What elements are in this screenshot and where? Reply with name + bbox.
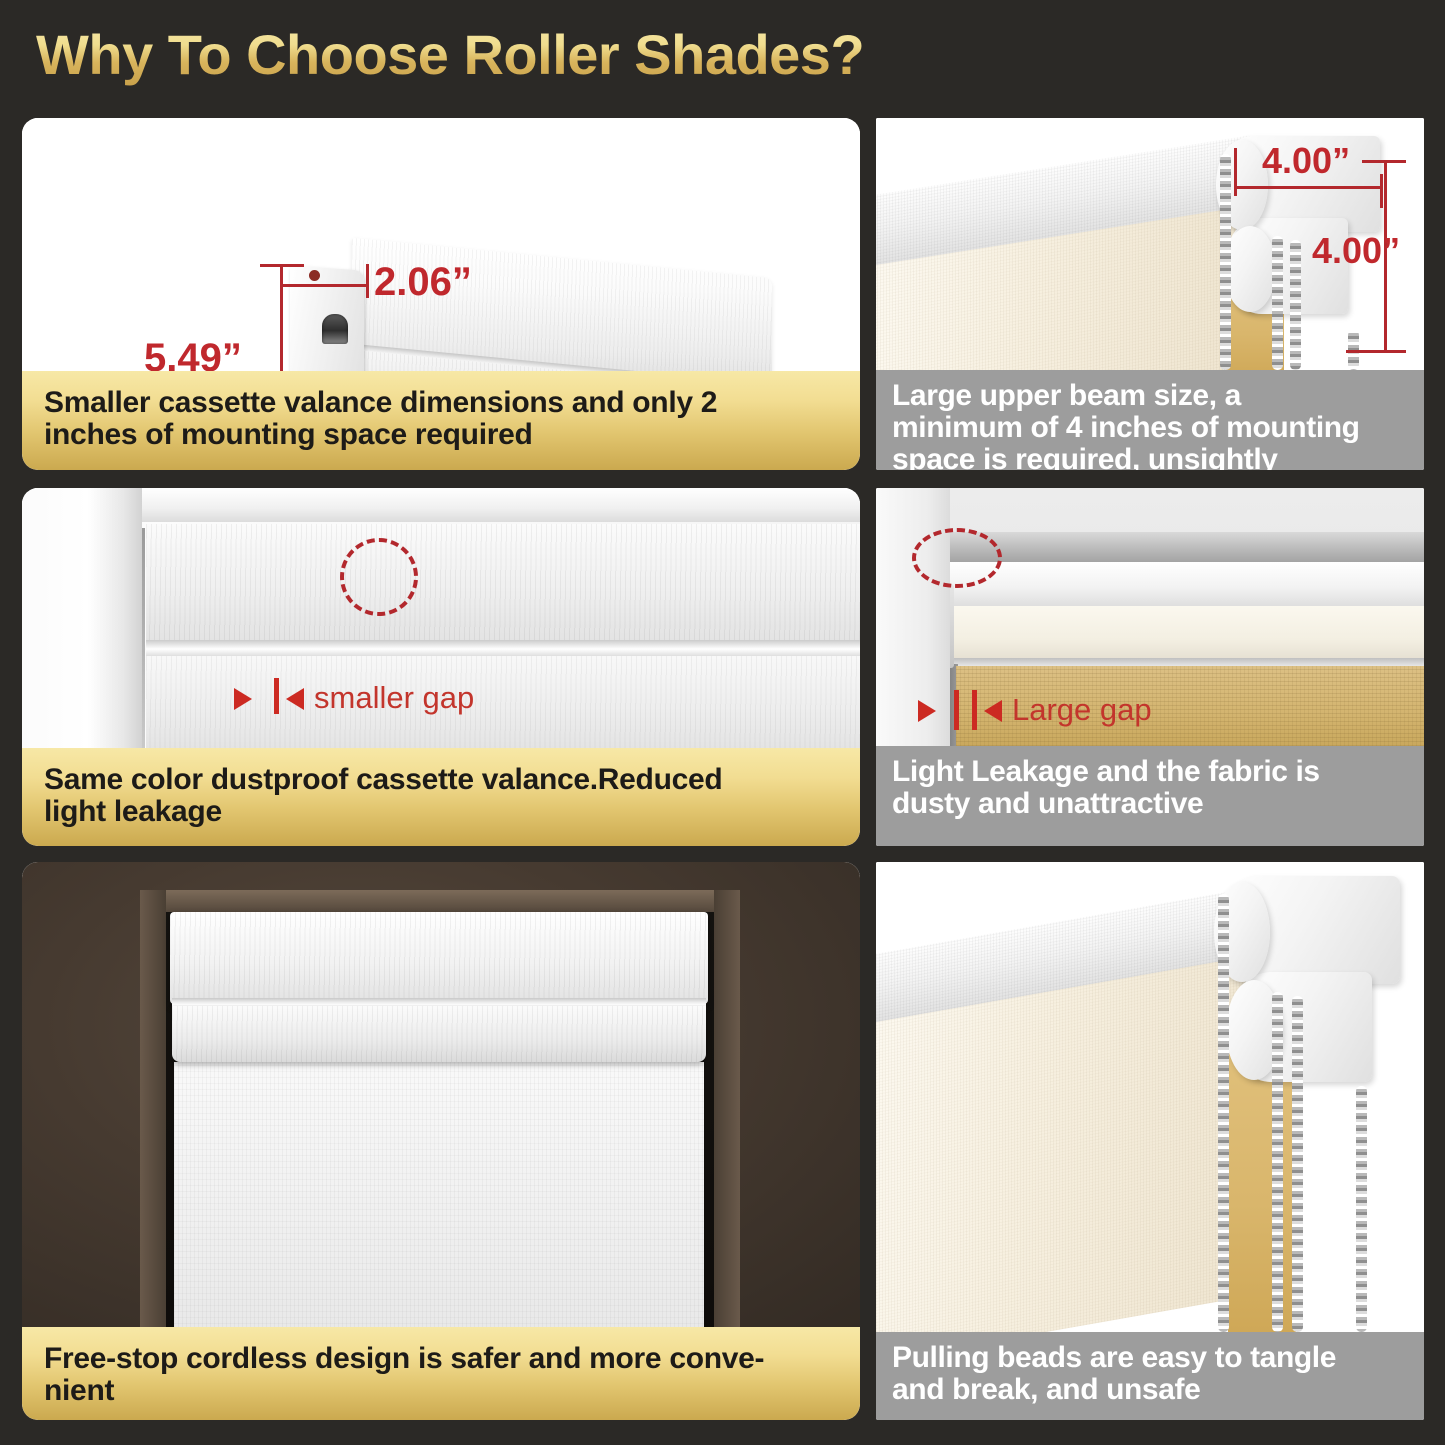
- bead-chain-1: [1220, 154, 1231, 370]
- beam-width-tick-left: [1234, 148, 1237, 196]
- gap-arrow-left: [234, 688, 252, 710]
- beam-height-label: 4.00”: [1312, 230, 1400, 272]
- panel-2-photo: 4.00” 4.00”: [876, 118, 1424, 370]
- panel-5-caption-bar: Free-stop cordless design is safer and m…: [22, 1327, 860, 1420]
- dim-height-label: 5.49”: [144, 336, 242, 371]
- beam-width-label: 4.00”: [1262, 140, 1350, 182]
- cassette-valance-lower: [172, 1006, 706, 1062]
- roller-shade-fabric: [174, 1062, 704, 1327]
- beam-width-tick-right: [1380, 174, 1383, 208]
- dim-height-line: [280, 264, 283, 371]
- panel-1-caption-text: Smaller cassette valance dimensions and …: [44, 387, 717, 451]
- dim-width-tick-right: [366, 264, 369, 298]
- dim-height-cap-top: [260, 264, 304, 267]
- bead-chain-3: [1290, 240, 1301, 370]
- panel-2-caption-text: Large upper beam size, a minimum of 4 in…: [892, 380, 1360, 470]
- panel-3-caption-bar: Same color dustproof cassette valance.Re…: [22, 748, 860, 846]
- gap-highlight-ellipse: [912, 528, 1002, 588]
- bead-chain-left: [1218, 894, 1229, 1332]
- window-jamb-left: [140, 890, 166, 1327]
- window-frame-left: [22, 488, 142, 748]
- panel-bad-upper-beam-size: 4.00” 4.00” Large upper beam size, a min…: [876, 118, 1424, 470]
- gap-marker: [274, 678, 279, 714]
- panel-5-caption-text: Free-stop cordless design is safer and m…: [44, 1343, 764, 1407]
- large-gap-marker-b: [972, 690, 977, 730]
- panel-2-caption-bar: Large upper beam size, a minimum of 4 in…: [876, 370, 1424, 470]
- bead-chain-right: [1356, 1086, 1367, 1332]
- panel-6-photo: [876, 862, 1424, 1332]
- bead-chain-mid-a: [1272, 992, 1283, 1332]
- large-gap-arrow-left: [918, 700, 936, 722]
- dim-width-line: [280, 284, 368, 287]
- bead-roller-illustration: [876, 862, 1424, 1332]
- panel-good-smaller-gap: smaller gap Same color dustproof cassett…: [22, 488, 860, 846]
- valance-slot: [322, 314, 348, 344]
- large-gap-label: Large gap: [1012, 692, 1152, 728]
- page-title: Why To Choose Roller Shades?: [36, 22, 864, 87]
- panel-4-caption-text: Light Leakage and the fabric is dusty an…: [892, 756, 1320, 820]
- beam-height-cap-bottom: [1346, 350, 1406, 353]
- cassette-valance-front: [170, 912, 708, 1004]
- smaller-gap-label: smaller gap: [314, 680, 474, 716]
- panel-good-cordless-design: Free-stop cordless design is safer and m…: [22, 862, 860, 1420]
- beam-width-line: [1234, 186, 1382, 189]
- panel-5-photo: [22, 862, 860, 1327]
- panel-bad-large-gap: Large gap Light Leakage and the fabric i…: [876, 488, 1424, 846]
- valance-red-dot: [309, 270, 320, 281]
- large-gap-marker-a: [954, 690, 959, 730]
- panel-4-photo: Large gap: [876, 488, 1424, 746]
- headrail-cream: [948, 606, 1424, 662]
- dim-width-label: 2.06”: [374, 260, 472, 305]
- panel-4-caption-bar: Light Leakage and the fabric is dusty an…: [876, 746, 1424, 846]
- panel-6-caption-text: Pulling beads are easy to tangle and bre…: [892, 1342, 1336, 1406]
- window-jamb-right: [714, 890, 740, 1327]
- wall-edge-left: [876, 488, 950, 746]
- panel-bad-pulling-beads: Pulling beads are easy to tangle and bre…: [876, 862, 1424, 1420]
- window-frame-header: [140, 890, 740, 912]
- bead-chain-mid-b: [1292, 996, 1303, 1332]
- cassette-shade-lower: [146, 656, 860, 748]
- panel-6-caption-bar: Pulling beads are easy to tangle and bre…: [876, 1332, 1424, 1420]
- gap-highlight-circle: [340, 538, 418, 616]
- panel-3-caption-text: Same color dustproof cassette valance.Re…: [44, 764, 722, 828]
- cassette-valance-illustration: [22, 118, 860, 371]
- panel-good-cassette-dimensions: 2.06” 5.49” Smaller cassette valance dim…: [22, 118, 860, 470]
- beam-height-cap-top: [1362, 160, 1406, 163]
- bead-chain-2: [1272, 236, 1283, 370]
- panel-1-caption-bar: Smaller cassette valance dimensions and …: [22, 371, 860, 470]
- window-frame-top: [127, 488, 860, 522]
- large-gap-arrow-right: [984, 700, 1002, 722]
- gap-arrow-right: [286, 688, 304, 710]
- infographic-root: Why To Choose Roller Shades? 2.06”: [0, 0, 1445, 1445]
- panel-3-photo: smaller gap: [22, 488, 860, 748]
- cassette-shade-upper: [146, 524, 860, 644]
- roller-end-disc-lower: [1224, 226, 1276, 312]
- bead-roller-fabric-front: [876, 957, 1246, 1332]
- panel-1-photo: 2.06” 5.49”: [22, 118, 860, 371]
